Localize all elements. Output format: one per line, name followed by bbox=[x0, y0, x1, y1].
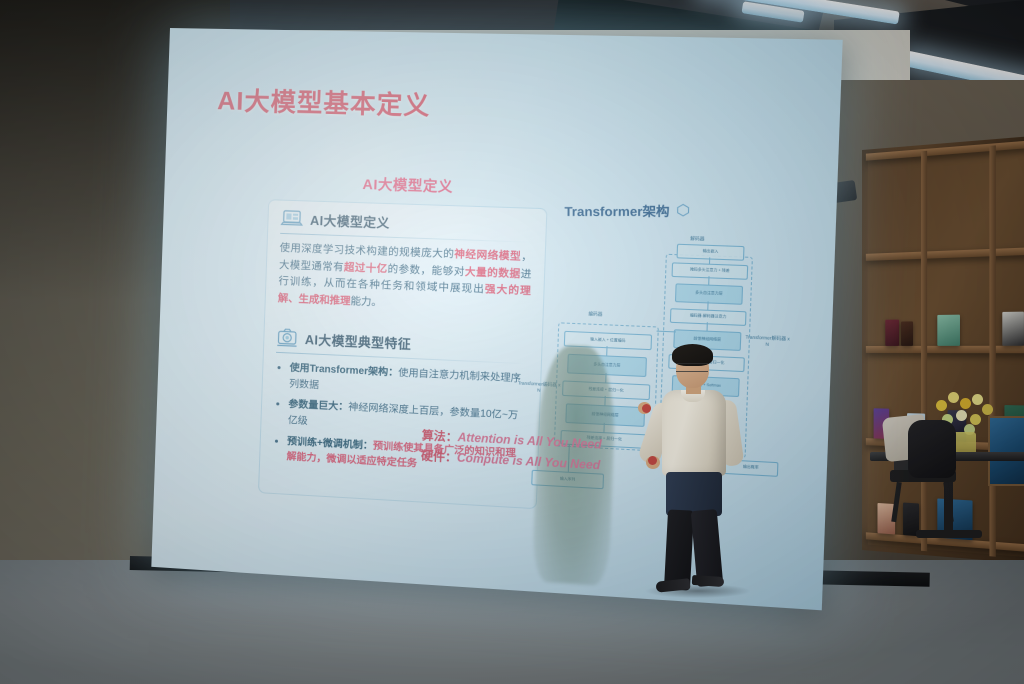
target-camera-icon bbox=[276, 328, 298, 348]
footer-key: 算法： bbox=[422, 430, 458, 444]
plain-text: 使用深度学习技术构建的规模庞大的 bbox=[279, 243, 454, 261]
book bbox=[901, 321, 913, 346]
diagram-box: 掩码多头注意力 + 残差 bbox=[671, 262, 748, 279]
slide-subtitle: AI大模型定义 bbox=[362, 174, 453, 197]
book bbox=[1002, 312, 1024, 346]
book bbox=[937, 315, 960, 346]
presenter-torso bbox=[662, 390, 726, 476]
presenter bbox=[640, 344, 752, 592]
presenter-clicker bbox=[648, 456, 657, 465]
highlighted-text: 神经网络模型 bbox=[454, 249, 521, 263]
diagram-box: 编码器-解码器注意力 bbox=[670, 308, 747, 326]
highlighted-text: 超过十亿 bbox=[344, 262, 388, 275]
feature-label: 参数量巨大： bbox=[288, 399, 348, 413]
plain-text: 能力。 bbox=[350, 296, 382, 308]
encoder-label: 编码器 bbox=[588, 311, 602, 318]
book bbox=[885, 320, 899, 346]
features-heading: AI大模型典型特征 bbox=[305, 329, 412, 353]
definition-paragraph: 使用深度学习技术构建的规模庞大的神经网络模型，大模型通常有超过十亿的参数，能够对… bbox=[265, 241, 544, 319]
feature-label: 使用Transformer架构： bbox=[289, 363, 398, 379]
hexagon-icon bbox=[676, 203, 690, 217]
presenter-shoe-right bbox=[692, 575, 725, 587]
backpack bbox=[908, 420, 956, 478]
definition-section-header: AI大模型定义 bbox=[268, 200, 546, 242]
diagram-box: 输出嵌入 bbox=[677, 244, 745, 261]
diagram-title-text: Transformer架构 bbox=[564, 200, 669, 220]
decoder-label: 解码器 bbox=[690, 236, 705, 243]
desk-foot bbox=[916, 530, 982, 538]
slide-title: AI大模型基本定义 bbox=[217, 81, 431, 123]
presenter-pointer bbox=[642, 404, 651, 413]
feature-item: 使用Transformer架构：使用自注意力机制来处理序列数据 bbox=[289, 361, 528, 404]
laptop-icon bbox=[280, 210, 303, 228]
diagram-title: Transformer架构 bbox=[564, 200, 690, 220]
definition-heading: AI大模型定义 bbox=[310, 210, 390, 232]
highlighted-text: 大量的数据 bbox=[465, 267, 521, 280]
diagram-box: 多头自注意力层 bbox=[675, 283, 743, 304]
footer-key: 硬件： bbox=[421, 450, 457, 464]
feature-label: 预训练+微调机制： bbox=[287, 436, 373, 452]
room-photo: AI大模型基本定义 AI大模型定义 AI大模型定义 使用深度学习技术构建的规模庞… bbox=[0, 0, 1024, 684]
plain-text: 的参数，能够对 bbox=[387, 264, 465, 278]
glasses-icon bbox=[676, 363, 708, 372]
